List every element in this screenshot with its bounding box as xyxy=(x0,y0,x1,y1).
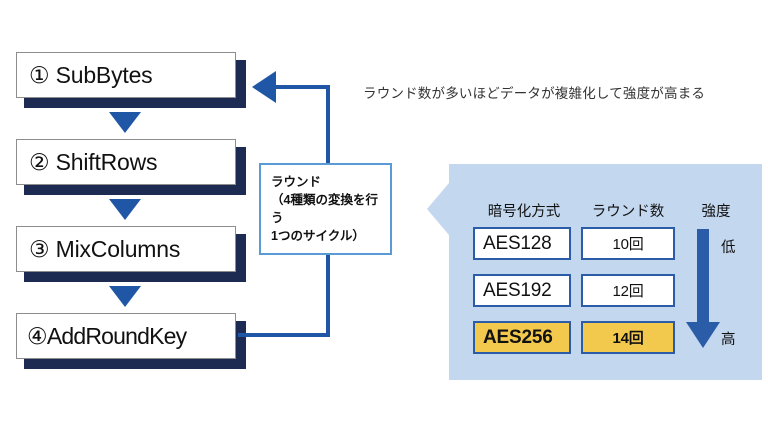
table-row: AES128 xyxy=(473,227,571,260)
feedback-loop-bottom-segment xyxy=(238,333,330,337)
feedback-loop-top-segment xyxy=(276,85,330,89)
strength-arrow-head-icon xyxy=(686,322,720,348)
diagram-canvas: ラウンド数が多いほどデータが複雑化して強度が高まる ① SubBytes ② S… xyxy=(0,0,768,432)
column-header-strength: 強度 xyxy=(683,200,749,221)
feedback-loop-vertical-lower-segment xyxy=(326,255,330,337)
table-row: 14回 xyxy=(581,321,675,354)
cell-rounds-aes256: 14回 xyxy=(612,327,643,348)
table-row: AES256 xyxy=(473,321,571,354)
feedback-loop-arrowhead-icon xyxy=(252,71,276,103)
column-header-method: 暗号化方式 xyxy=(471,200,577,221)
round-callout-text: ラウンド （4種類の変換を行う 1つのサイクル） xyxy=(271,173,384,246)
column-header-rounds: ラウンド数 xyxy=(577,200,679,221)
panel-notch-arrow-icon xyxy=(427,183,449,235)
top-annotation: ラウンド数が多いほどデータが複雑化して強度が高まる xyxy=(363,82,705,102)
step-box-face: ③ MixColumns xyxy=(16,226,236,272)
step-label-mixcolumns: ③ MixColumns xyxy=(17,238,180,261)
step-box-addroundkey: ④AddRoundKey xyxy=(16,313,238,361)
step-box-subbytes: ① SubBytes xyxy=(16,52,238,100)
step-box-face: ① SubBytes xyxy=(16,52,236,98)
table-row: 12回 xyxy=(581,274,675,307)
cell-rounds-aes192: 12回 xyxy=(612,280,643,301)
cell-rounds-aes128: 10回 xyxy=(612,233,643,254)
feedback-loop-vertical-upper-segment xyxy=(326,85,330,165)
strength-arrow-shaft xyxy=(697,229,709,327)
strength-label-low: 低 xyxy=(721,236,736,257)
flow-arrow-3-icon xyxy=(109,286,141,307)
step-label-shiftrows: ② ShiftRows xyxy=(17,151,157,174)
step-box-mixcolumns: ③ MixColumns xyxy=(16,226,238,274)
step-label-addroundkey: ④AddRoundKey xyxy=(17,325,186,348)
round-callout-box: ラウンド （4種類の変換を行う 1つのサイクル） xyxy=(259,163,392,255)
cell-method-aes256: AES256 xyxy=(483,327,553,349)
cipher-info-panel: 暗号化方式 ラウンド数 強度 AES128 10回 AES192 12回 AES… xyxy=(449,164,762,380)
step-box-face: ② ShiftRows xyxy=(16,139,236,185)
flow-arrow-2-icon xyxy=(109,199,141,220)
cell-method-aes192: AES192 xyxy=(483,280,552,302)
flow-arrow-1-icon xyxy=(109,112,141,133)
cell-method-aes128: AES128 xyxy=(483,233,552,255)
step-box-face: ④AddRoundKey xyxy=(16,313,236,359)
step-label-subbytes: ① SubBytes xyxy=(17,64,152,87)
step-box-shiftrows: ② ShiftRows xyxy=(16,139,238,187)
table-row: 10回 xyxy=(581,227,675,260)
table-row: AES192 xyxy=(473,274,571,307)
strength-label-high: 高 xyxy=(721,328,736,349)
